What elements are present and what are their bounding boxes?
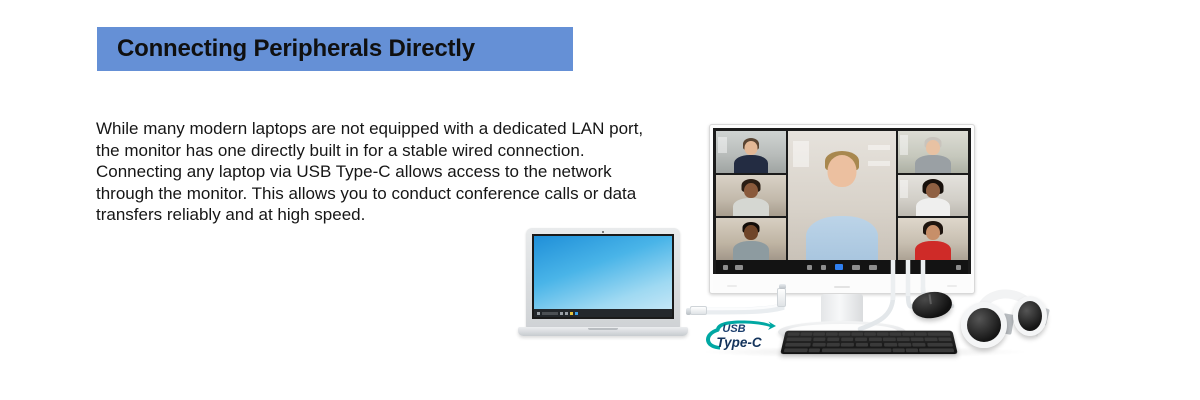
usb-c-plug-laptop-end bbox=[690, 306, 707, 315]
keyboard-row bbox=[784, 348, 955, 352]
keyboard-cable bbox=[860, 296, 893, 329]
keyboard-row bbox=[786, 337, 952, 341]
usb-type-c-logo-svg: USB Type-C bbox=[703, 318, 779, 352]
headphone-earcup-right bbox=[1013, 296, 1047, 336]
logo-usb-text: USB bbox=[722, 323, 745, 335]
usb-type-c-logo: USB Type-C bbox=[703, 318, 779, 352]
headphone-earcup-left bbox=[961, 302, 1007, 348]
logo-typec-text: Type-C bbox=[716, 335, 762, 350]
page-title: Connecting Peripherals Directly bbox=[97, 35, 475, 63]
headphones[interactable] bbox=[955, 288, 1051, 354]
page-title-banner: Connecting Peripherals Directly bbox=[97, 27, 573, 71]
usb-c-plug-tip bbox=[686, 308, 691, 315]
slide-canvas: Connecting Peripherals Directly While ma… bbox=[0, 0, 1200, 400]
usb-c-plug-tip bbox=[779, 284, 786, 289]
usb-c-plug-monitor-end bbox=[777, 288, 786, 307]
keyboard-row bbox=[785, 343, 953, 347]
keyboard-row bbox=[787, 332, 950, 336]
keyboard[interactable] bbox=[780, 331, 958, 354]
hardware-illustration: USB Type-C bbox=[500, 110, 1100, 370]
keyboard-keys bbox=[784, 332, 955, 352]
